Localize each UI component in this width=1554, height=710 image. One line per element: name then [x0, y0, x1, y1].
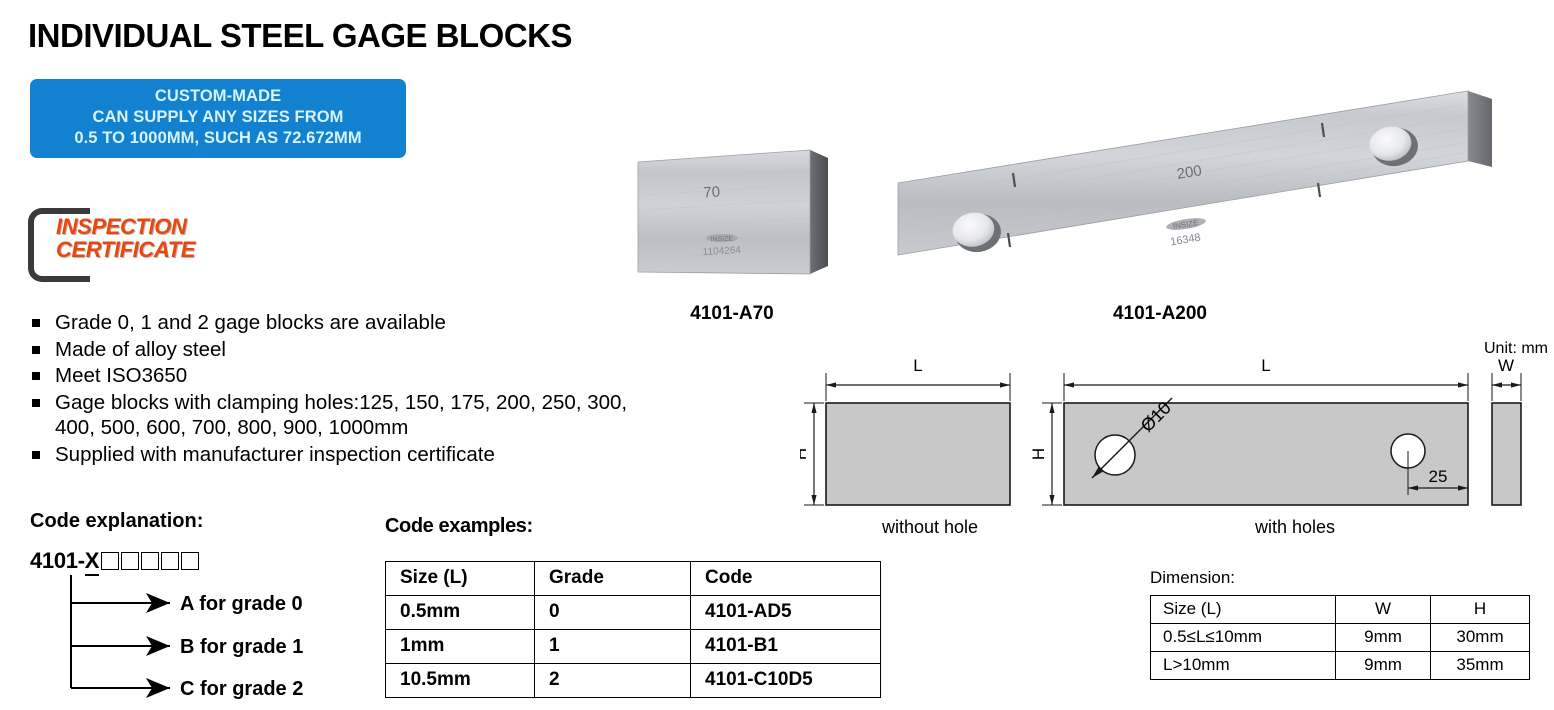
cell-grade: 1	[535, 630, 691, 664]
cell-code: 4101-B1	[691, 630, 881, 664]
logo-line-2: CERTIFICATE	[56, 238, 195, 261]
list-item: Supplied with manufacturer inspection ce…	[30, 442, 630, 468]
square-bullet-icon	[32, 451, 40, 459]
cell-size: 10.5mm	[386, 664, 535, 698]
drawing-caption-without-hole: without hole	[810, 517, 1050, 538]
cell-h: 30mm	[1431, 624, 1530, 652]
cell-code: 4101-C10D5	[691, 664, 881, 698]
list-item: Grade 0, 1 and 2 gage blocks are availab…	[30, 310, 630, 336]
table-row: 0.5mm 0 4101-AD5	[386, 596, 881, 630]
list-item: Meet ISO3650	[30, 363, 630, 389]
cell-h: 35mm	[1431, 652, 1530, 680]
cell-size: 0.5mm	[386, 596, 535, 630]
svg-text:INSIZE: INSIZE	[710, 235, 733, 243]
cell-size: 1mm	[386, 630, 535, 664]
table-row: L>10mm 9mm 35mm	[1151, 652, 1530, 680]
code-box	[121, 552, 139, 570]
column-header-h: H	[1431, 596, 1530, 624]
code-placeholder-boxes	[101, 552, 201, 570]
svg-text:L: L	[1261, 356, 1270, 375]
svg-text:INSIZE: INSIZE	[1172, 218, 1199, 231]
feature-text: Supplied with manufacturer inspection ce…	[55, 443, 495, 466]
svg-text:16348: 16348	[1169, 232, 1201, 249]
square-bullet-icon	[32, 399, 40, 407]
feature-list: Grade 0, 1 and 2 gage blocks are availab…	[30, 310, 630, 468]
code-examples-table: Size (L) Grade Code 0.5mm 0 4101-AD5 1mm…	[385, 561, 881, 698]
page-title: INDIVIDUAL STEEL GAGE BLOCKS	[28, 17, 572, 55]
code-prefix-text: 4101-	[30, 548, 85, 573]
square-bullet-icon	[32, 319, 40, 327]
grade-arrow-diagram: A for grade 0 B for grade 1 C for grade …	[30, 575, 370, 700]
table-header-row: Size (L) W H	[1151, 596, 1530, 624]
code-variable: X	[85, 548, 99, 576]
dimension-heading: Dimension:	[1150, 568, 1235, 588]
logo-line-1: INSPECTION	[56, 215, 195, 238]
code-box	[141, 552, 159, 570]
badge-line-1: CUSTOM-MADE	[30, 86, 406, 107]
grade-label-a: A for grade 0	[180, 593, 303, 616]
square-bullet-icon	[32, 372, 40, 380]
inspection-certificate-logo: INSPECTION CERTIFICATE	[26, 206, 266, 276]
code-box	[161, 552, 179, 570]
code-prefix: 4101-X	[30, 548, 99, 574]
grade-label-c: C for grade 2	[180, 678, 303, 701]
feature-text: Grade 0, 1 and 2 gage blocks are availab…	[55, 311, 446, 334]
inspection-certificate-text: INSPECTION CERTIFICATE	[56, 215, 195, 261]
feature-text: Made of alloy steel	[55, 338, 226, 361]
cell-size: L>10mm	[1151, 652, 1336, 680]
list-item: Gage blocks with clamping holes:125, 150…	[30, 390, 630, 441]
gage-block-70-photo: 70 INSIZE 1104264	[632, 140, 832, 285]
gage-block-70-caption: 4101-A70	[632, 303, 832, 325]
dimension-table: Size (L) W H 0.5≤L≤10mm 9mm 30mm L>10mm …	[1150, 595, 1530, 680]
column-header-grade: Grade	[535, 562, 691, 596]
svg-text:70: 70	[703, 184, 721, 202]
svg-text:W: W	[1498, 356, 1514, 375]
custom-made-badge: CUSTOM-MADE CAN SUPPLY ANY SIZES FROM 0.…	[30, 79, 406, 158]
code-box	[101, 552, 119, 570]
code-examples-heading: Code examples:	[385, 515, 533, 538]
svg-text:1104264: 1104264	[702, 245, 741, 258]
grade-label-b: B for grade 1	[180, 636, 303, 659]
table-row: 0.5≤L≤10mm 9mm 30mm	[1151, 624, 1530, 652]
column-header-size: Size (L)	[386, 562, 535, 596]
cell-w: 9mm	[1336, 652, 1431, 680]
table-row: 10.5mm 2 4101-C10D5	[386, 664, 881, 698]
feature-text: Gage blocks with clamping holes:125, 150…	[55, 391, 627, 440]
svg-text:25: 25	[1429, 467, 1448, 486]
code-box	[181, 552, 199, 570]
column-header-w: W	[1336, 596, 1431, 624]
cell-size: 0.5≤L≤10mm	[1151, 624, 1336, 652]
badge-line-2: CAN SUPPLY ANY SIZES FROM	[30, 107, 406, 128]
badge-line-3: 0.5 TO 1000MM, SUCH AS 72.672MM	[30, 128, 406, 149]
code-pattern: 4101-X	[30, 548, 201, 574]
cell-grade: 0	[535, 596, 691, 630]
list-item: Made of alloy steel	[30, 337, 630, 363]
cell-code: 4101-AD5	[691, 596, 881, 630]
feature-text: Meet ISO3650	[55, 364, 187, 387]
code-explanation-heading: Code explanation:	[30, 510, 203, 533]
column-header-size: Size (L)	[1151, 596, 1336, 624]
drawing-caption-with-holes: with holes	[1160, 517, 1430, 538]
gage-block-200-photo: 200 INSIZE 16348	[890, 85, 1500, 285]
svg-text:L: L	[913, 356, 922, 375]
gage-block-200-caption: 4101-A200	[1000, 303, 1320, 325]
cell-w: 9mm	[1336, 624, 1431, 652]
column-header-code: Code	[691, 562, 881, 596]
square-bullet-icon	[32, 346, 40, 354]
table-header-row: Size (L) Grade Code	[386, 562, 881, 596]
cell-grade: 2	[535, 664, 691, 698]
svg-text:H: H	[800, 448, 810, 460]
table-row: 1mm 1 4101-B1	[386, 630, 881, 664]
svg-text:H: H	[1029, 448, 1048, 460]
